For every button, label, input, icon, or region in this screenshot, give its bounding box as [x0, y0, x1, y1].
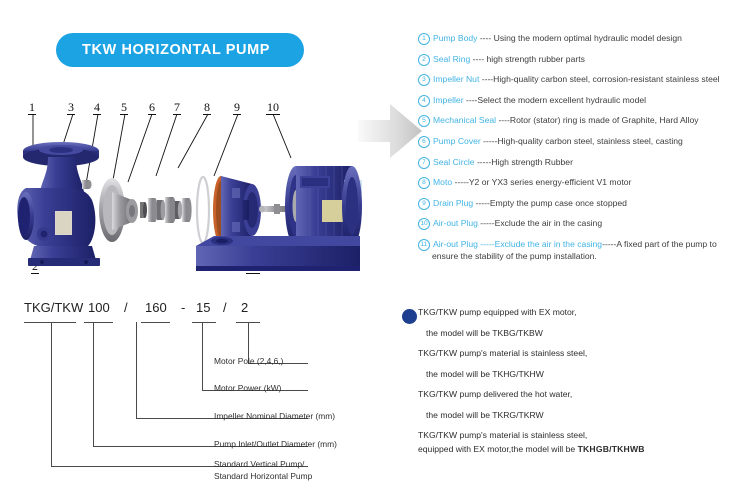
leader-v-standard: [51, 322, 52, 466]
legend-number-6: 6: [418, 136, 430, 148]
legend-part-name-10: Air-out Plug: [433, 218, 478, 228]
note-line-8-model: TKHGB/TKHWB: [578, 444, 645, 454]
legend-desc-7: High strength Rubber: [491, 157, 573, 167]
legend-number-1: 1: [418, 33, 430, 45]
legend-separator-3: ----: [479, 74, 493, 84]
note-line-2: the model will be TKBG/TKBW: [426, 328, 748, 339]
legend-part-name-7: Seal Circle: [433, 157, 475, 167]
model-segment-slash-1: /: [124, 300, 128, 315]
legend-item-4: 4Impeller ----Select the modern excellen…: [418, 95, 750, 107]
legend-item-3: 3Impeller Nut ----High-quality carbon st…: [418, 74, 750, 86]
legend-separator-10: -----: [478, 218, 495, 228]
legend-desc-2: high strength rubber parts: [487, 54, 585, 64]
bullet-icon: [402, 309, 417, 324]
note-line-8-prefix: equipped with EX motor,the model will be: [418, 444, 578, 454]
model-segment-power: 15: [196, 300, 210, 315]
legend-number-2: 2: [418, 54, 430, 66]
model-variant-notes: TKG/TKW pump equipped with EX motor, the…: [418, 307, 748, 465]
legend-desc-4: Select the modern excellent hydraulic mo…: [477, 95, 646, 105]
model-label-power: Motor Power (kW): [214, 383, 281, 394]
legend-item-5: 5Mechanical Seal ----Rotor (stator) ring…: [418, 115, 750, 127]
legend-part-name-11: Air-out Plug -----Exclude the air in the…: [433, 239, 602, 249]
diagram-page: TKW HORIZONTAL PUMP 1 3 4 5 6 7 8 9 10 2…: [0, 0, 756, 500]
legend-item-7: 7Seal Circle -----High strength Rubber: [418, 157, 750, 169]
legend-part-name-3: Impeller Nut: [433, 74, 479, 84]
model-segment-pole: 2: [241, 300, 248, 315]
note-line-7: TKG/TKW pump's material is stainless ste…: [418, 430, 748, 441]
model-underline-prefix: [24, 322, 76, 323]
model-segment-prefix: TKG/TKW: [24, 300, 83, 315]
legend-part-name-9: Drain Plug: [433, 198, 473, 208]
leader-v-impeller: [136, 322, 137, 418]
note-line-3: TKG/TKW pump's material is stainless ste…: [418, 348, 748, 359]
legend-item-1: 1Pump Body ---- Using the modern optimal…: [418, 33, 750, 45]
note-line-1: TKG/TKW pump equipped with EX motor,: [418, 307, 748, 318]
model-segment-dash: -: [181, 300, 185, 315]
legend-separator-1: ----: [477, 33, 493, 43]
legend-item-9: 9Drain Plug -----Empty the pump case onc…: [418, 198, 750, 210]
pump-parts-graphic: [0, 88, 370, 288]
legend-desc-11: -----A fixed part of the pump to: [602, 239, 717, 249]
model-code-breakdown: TKG/TKW 100 / 160 - 15 / 2 Motor Pole (2…: [0, 290, 400, 500]
legend-separator-8: -----: [452, 177, 469, 187]
parts-legend-list: 1Pump Body ---- Using the modern optimal…: [418, 33, 750, 271]
legend-number-4: 4: [418, 95, 430, 107]
model-label-standard-2: Standard Horizontal Pump: [214, 471, 312, 482]
legend-desc-8: Y2 or YX3 series energy-efficient V1 mot…: [469, 177, 632, 187]
model-underline-inlet: [84, 322, 113, 323]
leader-v-power: [202, 322, 203, 390]
legend-separator-9: -----: [473, 198, 490, 208]
legend-separator-2: ----: [470, 54, 486, 64]
model-segment-impeller: 160: [145, 300, 167, 315]
legend-number-7: 7: [418, 157, 430, 169]
model-underline-power: [192, 322, 216, 323]
model-label-impeller: Impeller Nominal Diameter (mm): [214, 411, 335, 422]
legend-separator-6: -----: [481, 136, 498, 146]
legend-separator-5: ----: [496, 115, 510, 125]
legend-desc-1: Using the modern optimal hydraulic model…: [494, 33, 682, 43]
legend-item-11: 11Air-out Plug -----Exclude the air in t…: [418, 239, 750, 262]
model-label-inlet: Pump Inlet/Outlet Diameter (mm): [214, 439, 337, 450]
legend-item-2: 2Seal Ring ---- high strength rubber par…: [418, 54, 750, 66]
legend-number-5: 5: [418, 115, 430, 127]
legend-number-3: 3: [418, 74, 430, 86]
note-line-8: equipped with EX motor,the model will be…: [418, 444, 748, 455]
right-arrow-icon: [358, 100, 424, 162]
legend-part-name-5: Mechanical Seal: [433, 115, 496, 125]
model-segment-slash-2: /: [223, 300, 227, 315]
legend-separator-7: -----: [475, 157, 492, 167]
legend-desc-5: Rotor (stator) ring is made of Graphite,…: [510, 115, 699, 125]
legend-number-9: 9: [418, 198, 430, 210]
legend-desc-6: High-quality carbon steel, stainless ste…: [497, 136, 682, 146]
note-line-6: the model will be TKRG/TKRW: [426, 410, 748, 421]
page-title: TKW HORIZONTAL PUMP: [56, 42, 270, 58]
legend-part-name-8: Moto: [433, 177, 452, 187]
legend-part-name-6: Pump Cover: [433, 136, 481, 146]
legend-item-8: 8Moto -----Y2 or YX3 series energy-effic…: [418, 177, 750, 189]
page-title-banner: TKW HORIZONTAL PUMP: [56, 33, 304, 67]
exploded-pump-diagram: 1 3 4 5 6 7 8 9 10 2 11: [0, 88, 370, 288]
legend-number-11: 11: [418, 239, 430, 251]
legend-part-name-4: Impeller: [433, 95, 464, 105]
leader-v-inlet: [93, 322, 94, 446]
legend-desc-9: Empty the pump case once stopped: [490, 198, 627, 208]
model-segment-inlet: 100: [88, 300, 110, 315]
legend-separator-4: ----: [464, 95, 478, 105]
legend-item-6: 6Pump Cover -----High-quality carbon ste…: [418, 136, 750, 148]
model-underline-impeller: [141, 322, 170, 323]
model-label-standard-1: Standard Vertical Pump/: [214, 459, 304, 470]
legend-number-8: 8: [418, 177, 430, 189]
legend-item-10: 10Air-out Plug -----Exclude the air in t…: [418, 218, 750, 230]
note-line-4: the model will be TKHG/TKHW: [426, 369, 748, 380]
legend-desc-10: Exclude the air in the casing: [495, 218, 603, 228]
legend-part-name-2: Seal Ring: [433, 54, 470, 64]
legend-desc-11-continued: ensure the stability of the pump install…: [432, 251, 750, 262]
note-line-5: TKG/TKW pump delivered the hot water,: [418, 389, 748, 400]
legend-part-name-1: Pump Body: [433, 33, 477, 43]
model-label-pole: Motor Pole (2,4,6,): [214, 356, 283, 367]
legend-desc-3: High-quality carbon steel, corrosion-res…: [493, 74, 719, 84]
legend-number-10: 10: [418, 218, 430, 230]
